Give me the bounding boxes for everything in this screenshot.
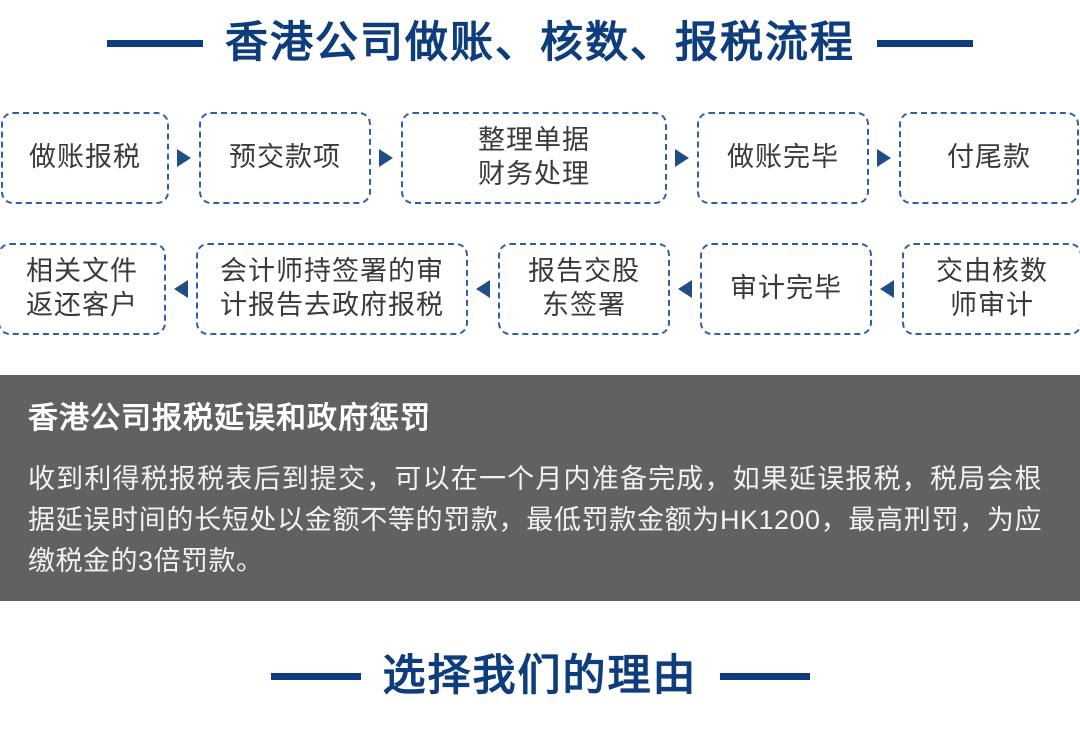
flow-step-label: 交由核数 师审计 xyxy=(936,255,1048,323)
flow-step-box[interactable]: 付尾款 xyxy=(899,112,1079,204)
bottom-heading-text: 选择我们的理由 xyxy=(383,655,698,698)
flow-step-label: 报告交股 东签署 xyxy=(528,255,640,323)
heading-rule-right-icon xyxy=(720,673,810,680)
flow-step-label: 付尾款 xyxy=(947,141,1031,175)
flow-step-label: 做账报税 xyxy=(29,141,141,175)
flow-step-label: 整理单据 财务处理 xyxy=(478,124,590,192)
flowchart-row-2: 相关文件 返还客户 会计师持签署的审 计报告去政府报税 报告交股 东签署 审计完… xyxy=(0,243,1080,335)
flow-step-label: 审计完毕 xyxy=(730,272,842,306)
flow-step-box[interactable]: 会计师持签署的审 计报告去政府报税 xyxy=(196,243,468,335)
arrow-right-icon xyxy=(371,112,401,204)
flow-step-box[interactable]: 相关文件 返还客户 xyxy=(0,243,166,335)
flow-step-box[interactable]: 整理单据 财务处理 xyxy=(401,112,667,204)
arrow-right-icon xyxy=(869,112,899,204)
top-section-heading: 香港公司做账、核数、报税流程 xyxy=(0,22,1080,65)
flow-step-box[interactable]: 报告交股 东签署 xyxy=(498,243,670,335)
notice-panel: 香港公司报税延误和政府惩罚 收到利得税报税表后到提交，可以在一个月内准备完成，如… xyxy=(0,375,1080,601)
flow-step-box[interactable]: 做账报税 xyxy=(1,112,169,204)
heading-rule-right-icon xyxy=(877,40,973,47)
flow-step-box[interactable]: 预交款项 xyxy=(199,112,371,204)
bottom-section-heading: 选择我们的理由 xyxy=(0,655,1080,698)
heading-rule-left-icon xyxy=(107,40,203,47)
heading-rule-left-icon xyxy=(271,673,361,680)
page-root: 香港公司做账、核数、报税流程 做账报税 预交款项 整理单据 财务处理 做账完毕 … xyxy=(0,0,1080,734)
flow-step-label: 做账完毕 xyxy=(727,141,839,175)
flow-step-label: 会计师持签署的审 计报告去政府报税 xyxy=(220,255,444,323)
arrow-right-icon xyxy=(169,112,199,204)
arrow-left-icon xyxy=(872,243,902,335)
flow-step-box[interactable]: 审计完毕 xyxy=(700,243,872,335)
top-heading-text: 香港公司做账、核数、报税流程 xyxy=(225,22,855,65)
flow-step-label: 预交款项 xyxy=(229,141,341,175)
flow-step-box[interactable]: 交由核数 师审计 xyxy=(902,243,1080,335)
arrow-left-icon xyxy=(166,243,196,335)
flow-step-label: 相关文件 返还客户 xyxy=(26,255,138,323)
flow-step-box[interactable]: 做账完毕 xyxy=(697,112,869,204)
arrow-left-icon xyxy=(468,243,498,335)
flowchart-row-1: 做账报税 预交款项 整理单据 财务处理 做账完毕 付尾款 xyxy=(0,112,1080,204)
notice-title: 香港公司报税延误和政府惩罚 xyxy=(28,401,1046,437)
arrow-left-icon xyxy=(670,243,700,335)
arrow-right-icon xyxy=(667,112,697,204)
notice-body-text: 收到利得税报税表后到提交，可以在一个月内准备完成，如果延误报税，税局会根据延误时… xyxy=(28,459,1046,582)
